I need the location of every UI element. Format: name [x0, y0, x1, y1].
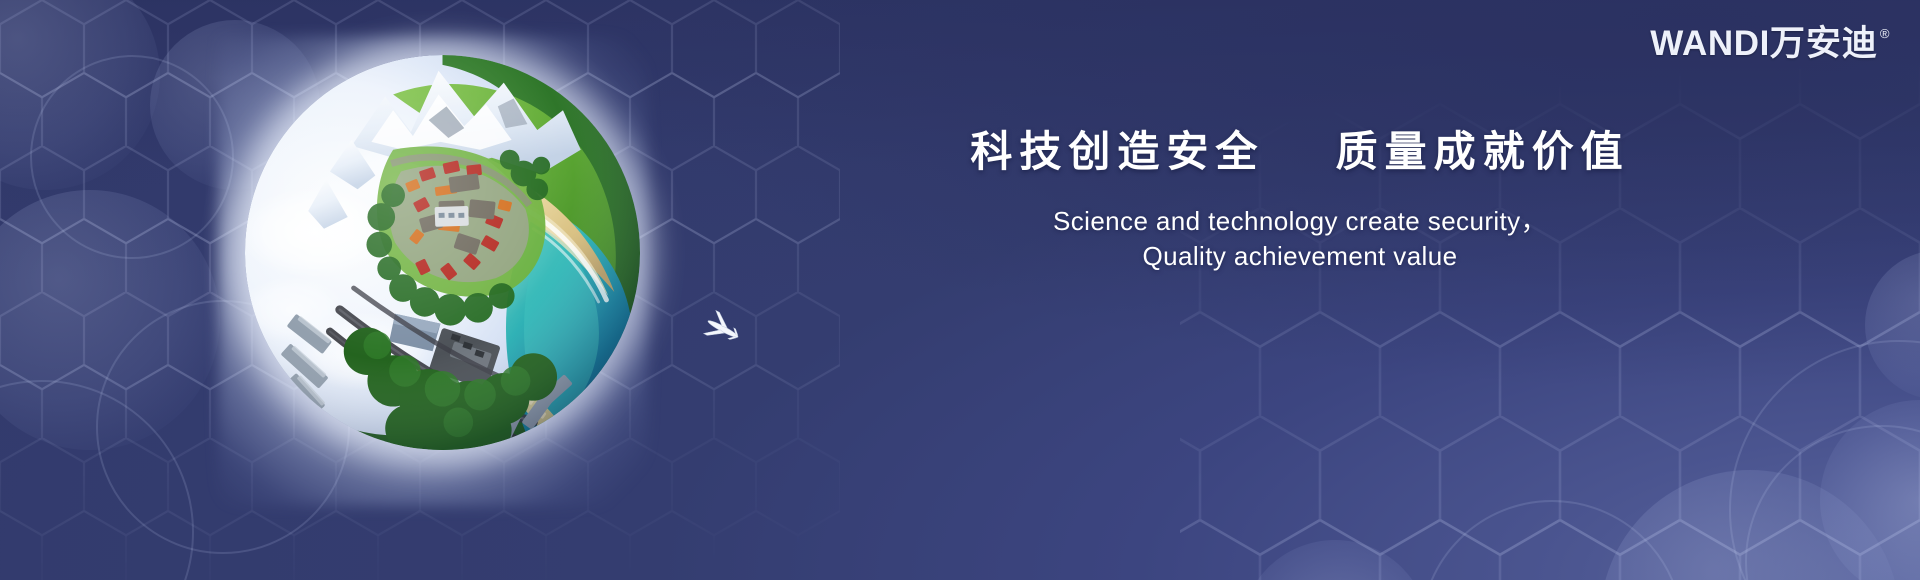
- headline: 科技创造安全 质量成就价值: [940, 128, 1660, 176]
- brand-logo[interactable]: WANDI 万安迪 ®: [1650, 26, 1890, 61]
- tiny-planet-globe: [245, 55, 640, 450]
- logo-latin-text: WANDI: [1650, 26, 1770, 61]
- hero-banner: WANDI 万安迪 ® 科技创造安全 质量成就价值 Science and te…: [0, 0, 1920, 580]
- headline-part-left: 科技创造安全: [970, 128, 1264, 175]
- hero-copy: 科技创造安全 质量成就价值 Science and technology cre…: [940, 128, 1660, 274]
- subtitle-line-2: Quality achievement value: [940, 239, 1660, 274]
- headline-part-right: 质量成就价值: [1336, 128, 1630, 175]
- airplane-icon: [695, 306, 751, 352]
- subtitle: Science and technology create security， …: [940, 204, 1660, 274]
- registered-trademark-icon: ®: [1880, 27, 1890, 40]
- logo-chinese-text: 万安迪: [1770, 26, 1878, 61]
- globe-illustration: [198, 18, 718, 558]
- subtitle-line-1: Science and technology create security，: [1053, 206, 1547, 236]
